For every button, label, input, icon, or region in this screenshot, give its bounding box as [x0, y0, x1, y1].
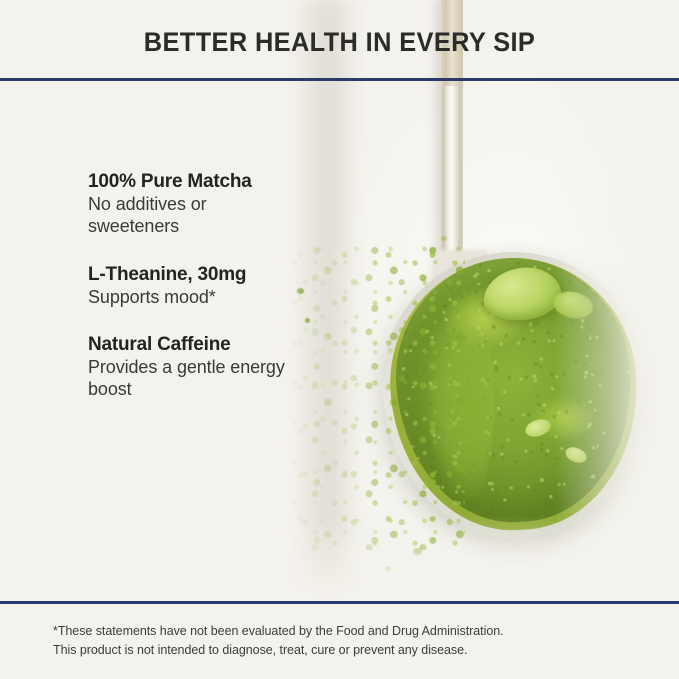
feature-heading: 100% Pure Matcha: [88, 171, 288, 193]
matcha-speck: [385, 566, 391, 571]
infographic-canvas: BETTER HEALTH IN EVERY SIP 100% Pure Mat…: [0, 0, 679, 679]
matcha-speck: [441, 236, 447, 241]
feature-heading: Natural Caffeine: [88, 334, 288, 356]
feature-item-natural-caffeine: Natural Caffeine Provides a gentle energ…: [88, 334, 288, 401]
feature-heading: L-Theanine, 30mg: [88, 264, 288, 286]
feature-item-l-theanine: L-Theanine, 30mg Supports mood*: [88, 264, 288, 308]
fda-disclaimer-line-2: This product is not intended to diagnose…: [53, 641, 633, 660]
feature-description: Supports mood*: [88, 286, 288, 308]
feature-description: No additives or sweeteners: [88, 193, 288, 238]
divider-top: [0, 78, 679, 81]
divider-bottom: [0, 601, 679, 604]
page-title: BETTER HEALTH IN EVERY SIP: [20, 27, 658, 58]
matcha-speck: [413, 548, 422, 555]
matcha-speck: [305, 318, 310, 323]
feature-item-pure-matcha: 100% Pure Matcha No additives or sweeten…: [88, 171, 288, 238]
matcha-scatter-spill: [275, 240, 465, 550]
feature-list: 100% Pure Matcha No additives or sweeten…: [88, 171, 288, 401]
feature-description: Provides a gentle energy boost: [88, 356, 288, 401]
matcha-speck: [297, 288, 304, 294]
matcha-spoon-photo: [235, 0, 679, 600]
fda-disclaimer-line-1: *These statements have not been evaluate…: [53, 622, 633, 641]
fda-disclaimer: *These statements have not been evaluate…: [53, 622, 633, 661]
